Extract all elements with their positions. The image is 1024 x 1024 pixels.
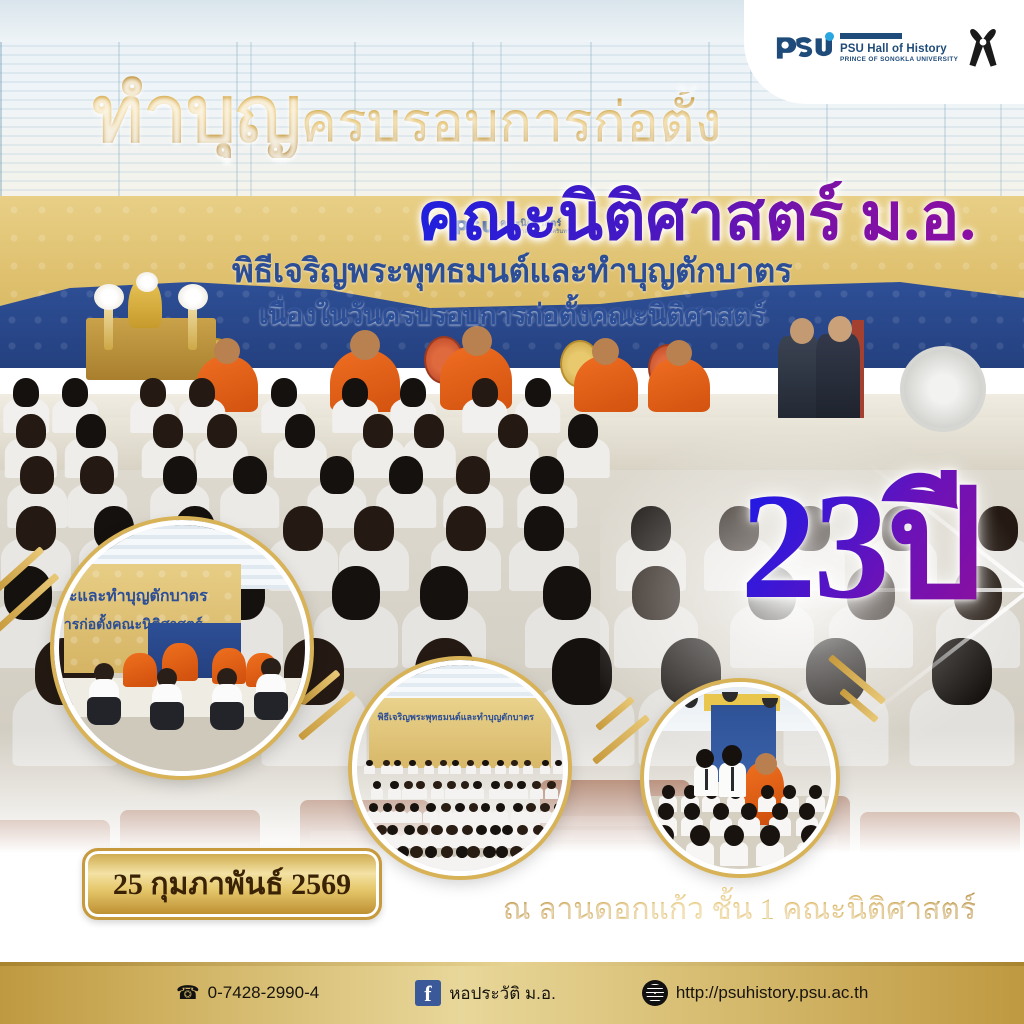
audience-head <box>543 566 591 620</box>
audience-head <box>16 414 46 448</box>
group-member <box>540 803 550 823</box>
seated-student <box>690 825 710 865</box>
audience-head <box>932 638 992 705</box>
group-member <box>462 825 473 847</box>
audience-head <box>163 456 197 494</box>
group-member <box>426 803 436 823</box>
group-member <box>446 825 457 847</box>
audience-head <box>342 378 368 407</box>
audience-head <box>363 414 393 448</box>
group-member <box>410 846 423 871</box>
audience-head <box>400 378 426 407</box>
title-line-2: คณะนิติศาสตร์ ม.อ. <box>0 164 1024 269</box>
poster-title: ทำบุญครบรอบการก่อตั้ง คณะนิติศาสตร์ ม.อ. <box>0 52 1024 269</box>
facebook-icon <box>415 980 441 1006</box>
group-member <box>425 760 432 774</box>
group-member <box>469 803 479 823</box>
audience-head <box>498 414 528 448</box>
title-emphasis: ทำบุญ <box>92 71 300 158</box>
standing-student <box>696 749 714 796</box>
group-member <box>491 781 499 798</box>
group-member <box>510 846 523 871</box>
group-member <box>387 825 398 847</box>
audience-head <box>189 378 215 407</box>
group-member <box>394 760 401 774</box>
event-date-badge: 25 กุมภาพันธ์ 2569 <box>82 848 382 920</box>
seated-student <box>724 825 744 865</box>
group-member <box>373 781 381 798</box>
footer-phone[interactable]: ☎ 0-7428-2990-4 <box>176 982 319 1005</box>
audience-head <box>76 414 106 448</box>
circle1-caption-line2: ารก่อตั้งคณะนิติศาสตร์ <box>64 614 203 636</box>
group-member <box>409 760 416 774</box>
footer-website[interactable]: http://psuhistory.psu.ac.th <box>642 980 868 1006</box>
audience-head <box>389 456 423 494</box>
audience-head <box>525 378 551 407</box>
group-member <box>502 825 513 847</box>
contact-footer: ☎ 0-7428-2990-4 หอประวัติ ม.อ. http://ps… <box>0 962 1024 1024</box>
audience-head <box>978 506 1018 551</box>
event-location: ณ ลานดอกแก้ว ชั้น 1 คณะนิติศาสตร์ <box>503 886 976 933</box>
group-member <box>441 846 454 871</box>
audience-head <box>285 414 315 448</box>
group-member <box>461 781 469 798</box>
poster-canvas: คณะนิติศาสตร์ มหาวิทยาลัยสงขลานครินทร์ พ… <box>0 0 1024 1024</box>
group-member <box>554 803 564 823</box>
group-member <box>517 825 528 847</box>
group-member <box>395 803 405 823</box>
title-rest: ครบรอบการก่อตั้ง <box>300 92 721 153</box>
website-url: http://psuhistory.psu.ac.th <box>676 983 868 1003</box>
group-member <box>383 760 390 774</box>
group-member <box>481 803 491 823</box>
monk <box>123 653 157 687</box>
group-member <box>476 825 487 847</box>
phone-number: 0-7428-2990-4 <box>208 983 320 1003</box>
footer-facebook[interactable]: หอประวัติ ม.อ. <box>415 980 556 1007</box>
audience-head <box>446 506 486 551</box>
group-member <box>482 760 489 774</box>
title-faculty: คณะนิติศาสตร์ ม.อ. <box>417 181 976 254</box>
group-member <box>547 781 555 798</box>
globe-icon <box>642 980 668 1006</box>
audience-head <box>20 456 54 494</box>
group-member <box>383 803 393 823</box>
circle-photo-content <box>649 687 831 869</box>
group-member <box>366 760 373 774</box>
group-member <box>390 781 398 798</box>
audience-head <box>320 456 354 494</box>
psu-dot-icon <box>825 32 834 41</box>
audience-head <box>456 456 490 494</box>
seated-student <box>801 825 821 865</box>
audience-head <box>472 378 498 407</box>
group-member <box>404 781 412 798</box>
student-legs <box>87 697 121 725</box>
facebook-page: หอประวัติ ม.อ. <box>449 980 556 1007</box>
student-legs <box>254 692 288 720</box>
group-member <box>533 825 544 847</box>
group-member <box>425 846 438 871</box>
group-member <box>416 781 424 798</box>
title-line-1: ทำบุญครบรอบการก่อตั้ง <box>0 52 1024 176</box>
audience-head <box>631 506 671 551</box>
logo-rule <box>840 33 902 39</box>
audience-head <box>332 566 380 620</box>
seated-student <box>654 825 674 865</box>
audience-head <box>16 506 56 551</box>
group-member <box>513 803 523 823</box>
group-member <box>496 803 506 823</box>
group-member <box>473 781 481 798</box>
student-legs <box>150 702 184 730</box>
group-member <box>369 803 379 823</box>
group-member <box>497 760 504 774</box>
audience-head <box>632 566 680 620</box>
audience-head <box>140 378 166 407</box>
group-member <box>440 760 447 774</box>
audience-head <box>62 378 88 407</box>
group-member <box>447 781 455 798</box>
audience-head <box>414 414 444 448</box>
monk-head <box>755 753 777 775</box>
audience-head <box>568 414 598 448</box>
audience-head <box>354 506 394 551</box>
seated-student <box>760 825 780 865</box>
circle-photo-group-portrait: พิธีเจริญพระพุทธมนต์และทำบุญตักบาตร <box>352 660 568 876</box>
group-member <box>467 760 474 774</box>
group-member <box>417 825 428 847</box>
group-member <box>467 846 480 871</box>
group-member <box>524 760 531 774</box>
group-member <box>452 760 459 774</box>
group-member <box>542 760 549 774</box>
circle1-caption-line1: ะและทำบุญตักบาตร <box>69 584 208 609</box>
circle-photo-blessing <box>644 682 836 874</box>
group-member <box>526 803 536 823</box>
circle2-caption: พิธีเจริญพระพุทธมนต์และทำบุญตักบาตร <box>378 710 534 724</box>
event-banner-line2: เนื่องในวันครบรอบการก่อตั้งคณะนิติศาสตร์ <box>0 293 1024 337</box>
circle-photo-content: พิธีเจริญพระพุทธมนต์และทำบุญตักบาตร <box>357 665 563 871</box>
circle-photo-content: ะและทำบุญตักบาตร ารก่อตั้งคณะนิติศาสตร์ <box>59 525 305 771</box>
audience-head <box>207 414 237 448</box>
banner-gold <box>369 698 550 768</box>
phone-icon: ☎ <box>176 982 200 1005</box>
anniversary-years: 23ปี <box>741 470 980 622</box>
group-member <box>410 803 420 823</box>
event-date: 25 กุมภาพันธ์ 2569 <box>113 861 351 908</box>
student-legs <box>210 702 244 730</box>
audience-head <box>530 456 564 494</box>
group-member <box>433 781 441 798</box>
audience-head <box>233 456 267 494</box>
standing-student <box>722 745 742 797</box>
group-member <box>455 803 465 823</box>
audience-head <box>80 456 114 494</box>
audience-head <box>13 378 39 407</box>
audience-head <box>524 506 564 551</box>
group-member <box>546 825 557 847</box>
audience-head <box>420 566 468 620</box>
group-member <box>511 760 518 774</box>
group-member <box>517 781 525 798</box>
audience-head <box>153 414 183 448</box>
group-member <box>504 781 512 798</box>
group-member <box>532 781 540 798</box>
audience-head <box>271 378 297 407</box>
group-member <box>441 803 451 823</box>
circle-photo-alms-offering: ะและทำบุญตักบาตร ารก่อตั้งคณะนิติศาสตร์ <box>54 520 310 776</box>
group-member <box>431 825 442 847</box>
group-member <box>555 760 562 774</box>
